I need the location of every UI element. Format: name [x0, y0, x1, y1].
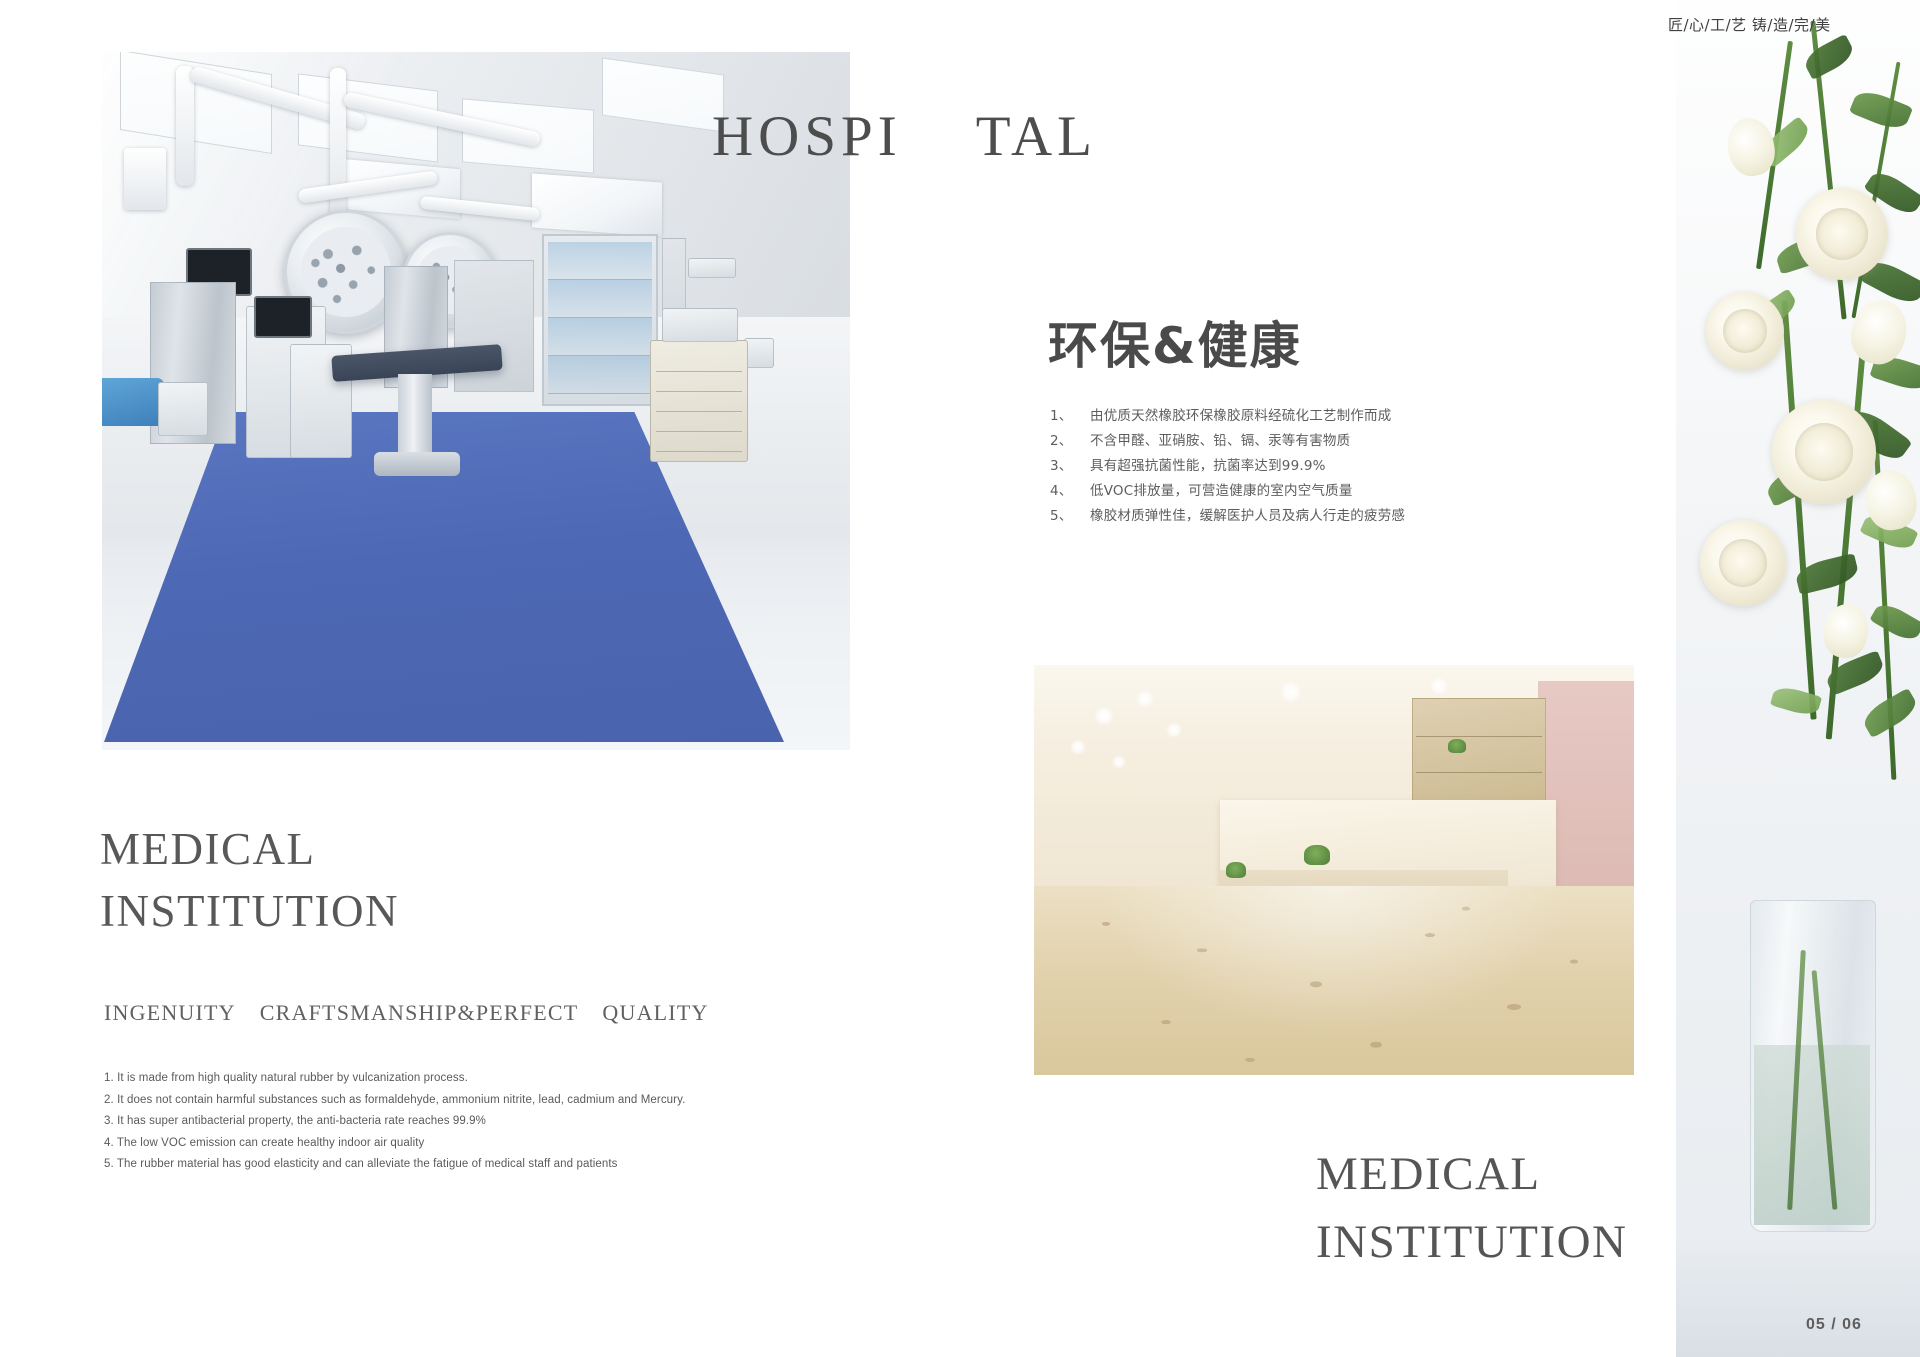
wall-panel: [688, 258, 736, 278]
cart-drawer: [656, 415, 742, 432]
light-mount: [124, 148, 166, 210]
wall-switch: [744, 338, 774, 368]
cabinet-shelf: [548, 318, 652, 356]
reception-shelving: [1412, 698, 1546, 815]
ceiling-light: [1094, 706, 1114, 726]
right-section-title: MEDICAL INSTITUTION: [1316, 1140, 1628, 1276]
right-title-line-2: INSTITUTION: [1316, 1208, 1628, 1276]
list-item: 4. The low VOC emission can create healt…: [104, 1133, 804, 1155]
page-number: 05 / 06: [1806, 1316, 1862, 1334]
light-arm-vertical: [176, 66, 194, 186]
operating-table-column: [398, 374, 432, 456]
subline-quality: QUALITY: [602, 1000, 708, 1025]
headline-part-2: TAL: [976, 105, 1097, 168]
cn-section-heading: 环保&健康: [1048, 306, 1302, 378]
shelf-line: [1416, 736, 1542, 737]
right-title-line-1: MEDICAL: [1316, 1140, 1628, 1208]
vase-water: [1754, 1045, 1870, 1225]
subline-craftsmanship: CRAFTSMANSHIP&PERFECT: [260, 1000, 579, 1025]
list-item-index: 4、: [1050, 479, 1090, 504]
list-item-text: 不含甲醛、亚硝胺、铅、镉、汞等有害物质: [1090, 429, 1510, 454]
ceiling-light: [1070, 739, 1086, 755]
potted-plant: [1304, 845, 1330, 865]
tagline-subline: INGENUITYCRAFTSMANSHIP&PERFECTQUALITY: [104, 1000, 709, 1026]
shelf-line: [1416, 772, 1542, 773]
potted-plant: [1226, 862, 1246, 878]
cart-top-tray: [662, 308, 738, 342]
white-rose: [1772, 400, 1876, 504]
potted-plant: [1448, 739, 1466, 753]
list-item-text: 橡胶材质弹性佳，缓解医护人员及病人行走的疲劳感: [1090, 504, 1510, 529]
vase-shadow: [1676, 1237, 1920, 1357]
cabinet-shelf: [548, 356, 652, 394]
subline-ingenuity: INGENUITY: [104, 1000, 236, 1025]
list-item: 2. It does not contain harmful substance…: [104, 1090, 804, 1112]
cart-drawer: [656, 375, 742, 392]
list-item-index: 5、: [1050, 504, 1090, 529]
corridor-terrazzo-floor: [1034, 886, 1634, 1075]
list-item: 1. It is made from high quality natural …: [104, 1068, 804, 1090]
list-item-index: 1、: [1050, 404, 1090, 429]
list-item: 3、 具有超强抗菌性能，抗菌率达到99.9%: [1050, 454, 1510, 479]
cart-drawer: [656, 395, 742, 412]
brand-tagline: 匠/心/工/艺 铸/造/完/美: [1668, 14, 1920, 35]
list-item-index: 2、: [1050, 429, 1090, 454]
list-item: 1、 由优质天然橡胶环保橡胶原料经硫化工艺制作而成: [1050, 404, 1510, 429]
list-item: 4、 低VOC排放量，可营造健康的室内空气质量: [1050, 479, 1510, 504]
white-rose: [1706, 292, 1784, 370]
list-item-text: 由优质天然橡胶环保橡胶原料经硫化工艺制作而成: [1090, 404, 1510, 429]
headline-part-1: HOSPI: [712, 105, 902, 168]
ceiling-tile: [532, 173, 662, 236]
cabinet-shelf: [548, 242, 652, 280]
cart-drawer: [656, 435, 742, 452]
hospital-corridor-photo: [1034, 665, 1634, 1075]
glass-supply-cabinet: [542, 234, 658, 406]
list-item-index: 3、: [1050, 454, 1090, 479]
left-title-line-1: MEDICAL: [100, 818, 399, 880]
operating-table-base: [374, 452, 460, 476]
white-rose: [1796, 188, 1888, 280]
brochure-page: HOSPITAL 环保&健康 1、 由优质天然橡胶环保橡胶原料经硫化工艺制作而成…: [0, 0, 1920, 1357]
list-item: 5. The rubber material has good elastici…: [104, 1154, 804, 1176]
supply-cart: [650, 340, 748, 462]
list-item: 2、 不含甲醛、亚硝胺、铅、镉、汞等有害物质: [1050, 429, 1510, 454]
page-title: HOSPITAL: [712, 104, 1097, 169]
vitals-monitor: [254, 296, 312, 338]
white-roses-vase-photo: [1676, 0, 1920, 1357]
en-feature-list: 1. It is made from high quality natural …: [104, 1068, 804, 1176]
left-title-line-2: INSTITUTION: [100, 880, 399, 942]
list-item-text: 具有超强抗菌性能，抗菌率达到99.9%: [1090, 454, 1510, 479]
cart-drawer: [656, 355, 742, 372]
cn-feature-list: 1、 由优质天然橡胶环保橡胶原料经硫化工艺制作而成 2、 不含甲醛、亚硝胺、铅、…: [1050, 404, 1510, 529]
list-item: 3. It has super antibacterial property, …: [104, 1111, 804, 1133]
list-item: 5、 橡胶材质弹性佳，缓解医护人员及病人行走的疲劳感: [1050, 504, 1510, 529]
left-section-title: MEDICAL INSTITUTION: [100, 818, 399, 942]
cabinet-shelf: [548, 280, 652, 318]
blue-equipment-bag: [102, 378, 164, 426]
ceiling-light: [1136, 690, 1154, 708]
floor-equipment: [158, 382, 208, 436]
list-item-text: 低VOC排放量，可营造健康的室内空气质量: [1090, 479, 1510, 504]
white-rose: [1700, 520, 1786, 606]
